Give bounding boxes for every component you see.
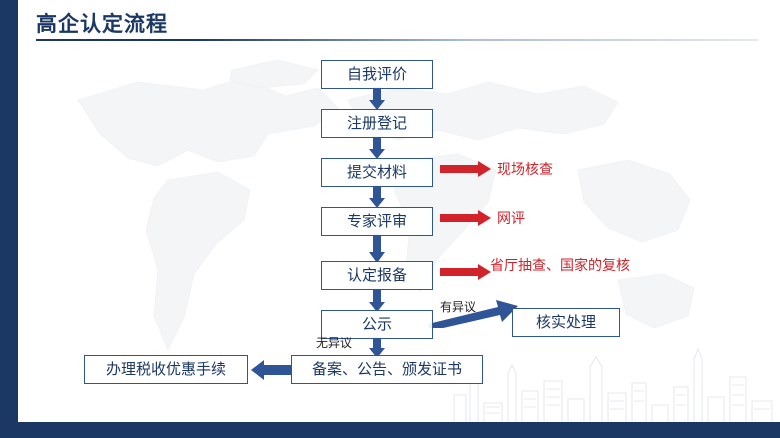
flow-box-publicity-label: 公示 xyxy=(362,317,392,332)
flow-box-verification-handling-label: 核实处理 xyxy=(536,315,596,330)
flow-box-verification-handling[interactable]: 核实处理 xyxy=(512,308,620,337)
arrow-expert-review-to-report xyxy=(368,234,386,264)
flow-box-self-evaluation[interactable]: 自我评价 xyxy=(321,60,433,89)
flow-box-tax-benefit-procedures[interactable]: 办理税收优惠手续 xyxy=(84,355,248,384)
title-area: 高企认定流程 xyxy=(18,8,758,46)
flow-box-submit-materials[interactable]: 提交材料 xyxy=(321,158,433,187)
arrow-submit-to-on-site-inspection xyxy=(440,160,492,178)
annotation-online-review: 网评 xyxy=(497,211,525,225)
flow-box-filing-announcement-certificate-label: 备案、公告、颁发证书 xyxy=(312,362,462,377)
slide: 高企认定流程 自我评价 注册登记 提交材料 xyxy=(0,0,780,438)
arrow-self-evaluation-to-registration xyxy=(368,87,386,111)
arrow-submit-to-expert-review xyxy=(368,185,386,209)
page-title: 高企认定流程 xyxy=(36,8,168,38)
left-accent-bar xyxy=(0,0,18,438)
flow-box-filing-announcement-certificate[interactable]: 备案、公告、颁发证书 xyxy=(291,355,483,384)
flow-box-expert-review[interactable]: 专家评审 xyxy=(321,207,433,236)
bottom-accent-bar xyxy=(0,422,780,438)
arrow-report-to-province-sampling xyxy=(440,263,492,281)
arrow-expert-review-to-online-review xyxy=(440,209,492,227)
annotation-province-sampling-national-recheck: 省厅抽查、国家的复核 xyxy=(490,258,630,272)
flow-box-registration-label: 注册登记 xyxy=(347,116,407,131)
arrow-registration-to-submit xyxy=(368,136,386,160)
annotation-no-objection: 无异议 xyxy=(316,337,352,349)
flow-box-certification-report[interactable]: 认定报备 xyxy=(321,261,433,290)
flow-box-publicity[interactable]: 公示 xyxy=(321,310,433,339)
flow-box-self-evaluation-label: 自我评价 xyxy=(347,67,407,82)
annotation-on-site-inspection: 现场核查 xyxy=(497,162,553,176)
annotation-has-objection: 有异议 xyxy=(440,301,476,313)
city-skyline-watermark xyxy=(450,347,780,422)
flow-box-certification-report-label: 认定报备 xyxy=(347,268,407,283)
flow-box-tax-benefit-procedures-label: 办理税收优惠手续 xyxy=(106,362,226,377)
arrow-filing-to-tax-benefit xyxy=(251,359,291,381)
flow-box-expert-review-label: 专家评审 xyxy=(347,214,407,229)
flow-box-submit-materials-label: 提交材料 xyxy=(347,165,407,180)
flow-box-registration[interactable]: 注册登记 xyxy=(321,109,433,138)
title-divider xyxy=(36,39,758,41)
